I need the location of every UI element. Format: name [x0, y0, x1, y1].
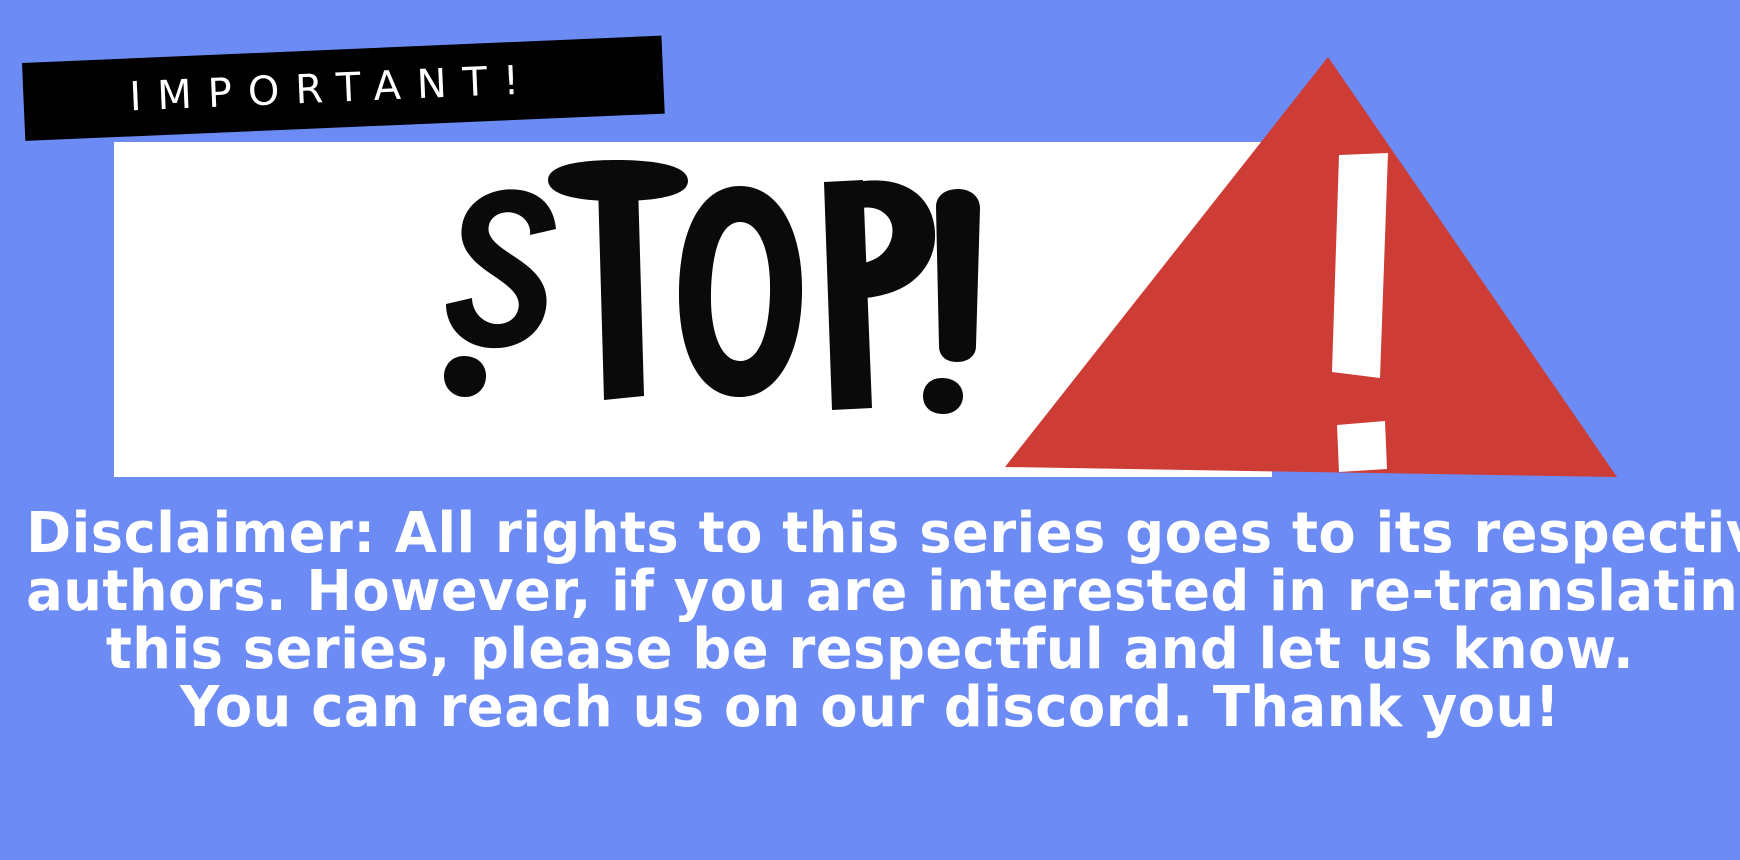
notice-card: IMPORTANT! Disclaimer: All rights to thi… [0, 0, 1740, 860]
important-banner-label: IMPORTANT! [127, 60, 536, 117]
warning-triangle-icon [980, 40, 1640, 500]
disclaimer-line-1: Disclaimer: All rights to this series go… [26, 505, 1714, 563]
disclaimer-line-2: authors. However, if you are interested … [26, 563, 1714, 621]
stop-headline [420, 160, 1000, 430]
disclaimer-line-4: You can reach us on our discord. Thank y… [26, 679, 1714, 737]
disclaimer-text: Disclaimer: All rights to this series go… [0, 505, 1740, 737]
warning-exclamation-dot [1337, 421, 1387, 472]
warning-triangle-shape [1005, 57, 1617, 477]
disclaimer-line-3: this series, please be respectful and le… [26, 621, 1714, 679]
warning-exclamation-bar [1332, 153, 1388, 378]
